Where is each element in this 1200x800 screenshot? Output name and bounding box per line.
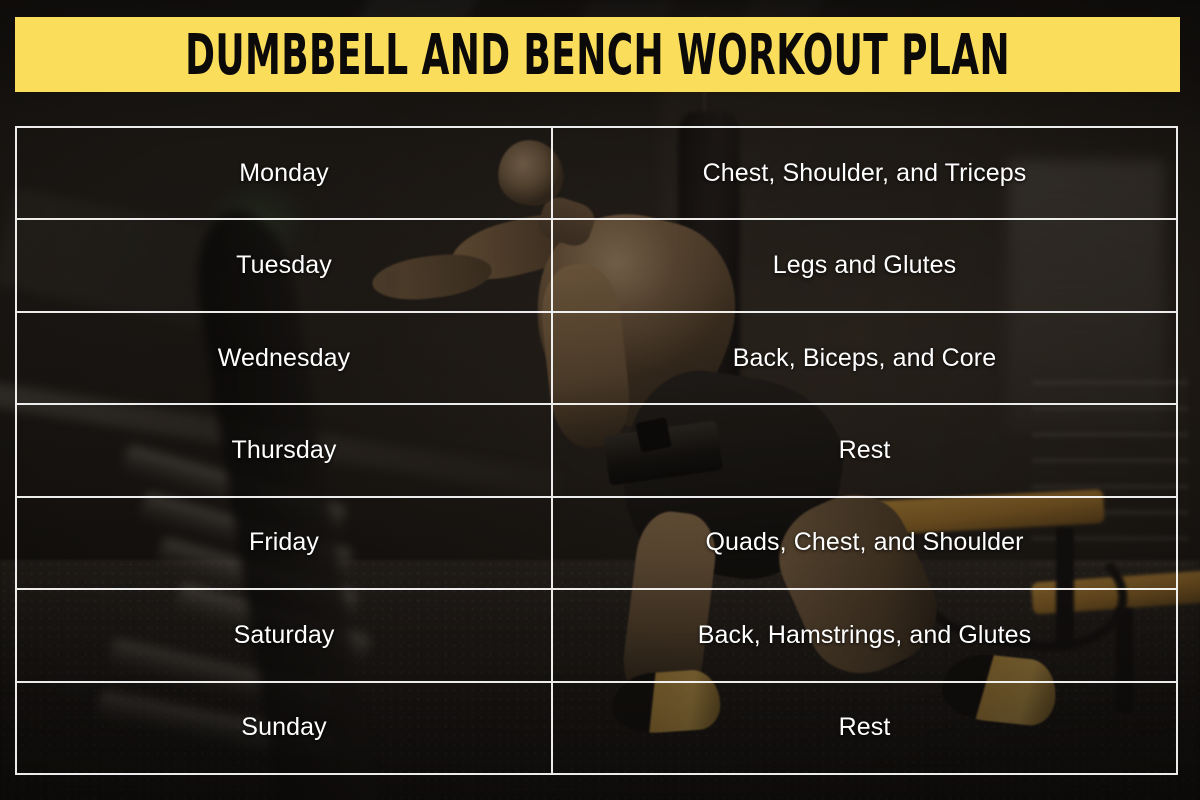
cell-day: Monday [17, 128, 553, 218]
cell-day: Sunday [17, 683, 553, 773]
table-row: Sunday Rest [17, 683, 1176, 773]
cell-day: Thursday [17, 405, 553, 495]
table-row: Saturday Back, Hamstrings, and Glutes [17, 590, 1176, 682]
table-row: Thursday Rest [17, 405, 1176, 497]
cell-focus: Back, Biceps, and Core [553, 313, 1176, 403]
table-row: Wednesday Back, Biceps, and Core [17, 313, 1176, 405]
title-banner: DUMBBELL AND BENCH WORKOUT PLAN [15, 17, 1180, 92]
cell-day: Tuesday [17, 220, 553, 310]
cell-focus: Rest [553, 683, 1176, 773]
table-row: Friday Quads, Chest, and Shoulder [17, 498, 1176, 590]
page-title: DUMBBELL AND BENCH WORKOUT PLAN [185, 27, 1010, 83]
cell-focus: Legs and Glutes [553, 220, 1176, 310]
cell-focus: Quads, Chest, and Shoulder [553, 498, 1176, 588]
table-row: Tuesday Legs and Glutes [17, 220, 1176, 312]
workout-schedule-table: Monday Chest, Shoulder, and Triceps Tues… [15, 126, 1178, 775]
cell-focus: Chest, Shoulder, and Triceps [553, 128, 1176, 218]
cell-focus: Back, Hamstrings, and Glutes [553, 590, 1176, 680]
poster-content: DUMBBELL AND BENCH WORKOUT PLAN Monday C… [0, 0, 1200, 800]
cell-day: Friday [17, 498, 553, 588]
cell-focus: Rest [553, 405, 1176, 495]
cell-day: Wednesday [17, 313, 553, 403]
cell-day: Saturday [17, 590, 553, 680]
table-row: Monday Chest, Shoulder, and Triceps [17, 128, 1176, 220]
